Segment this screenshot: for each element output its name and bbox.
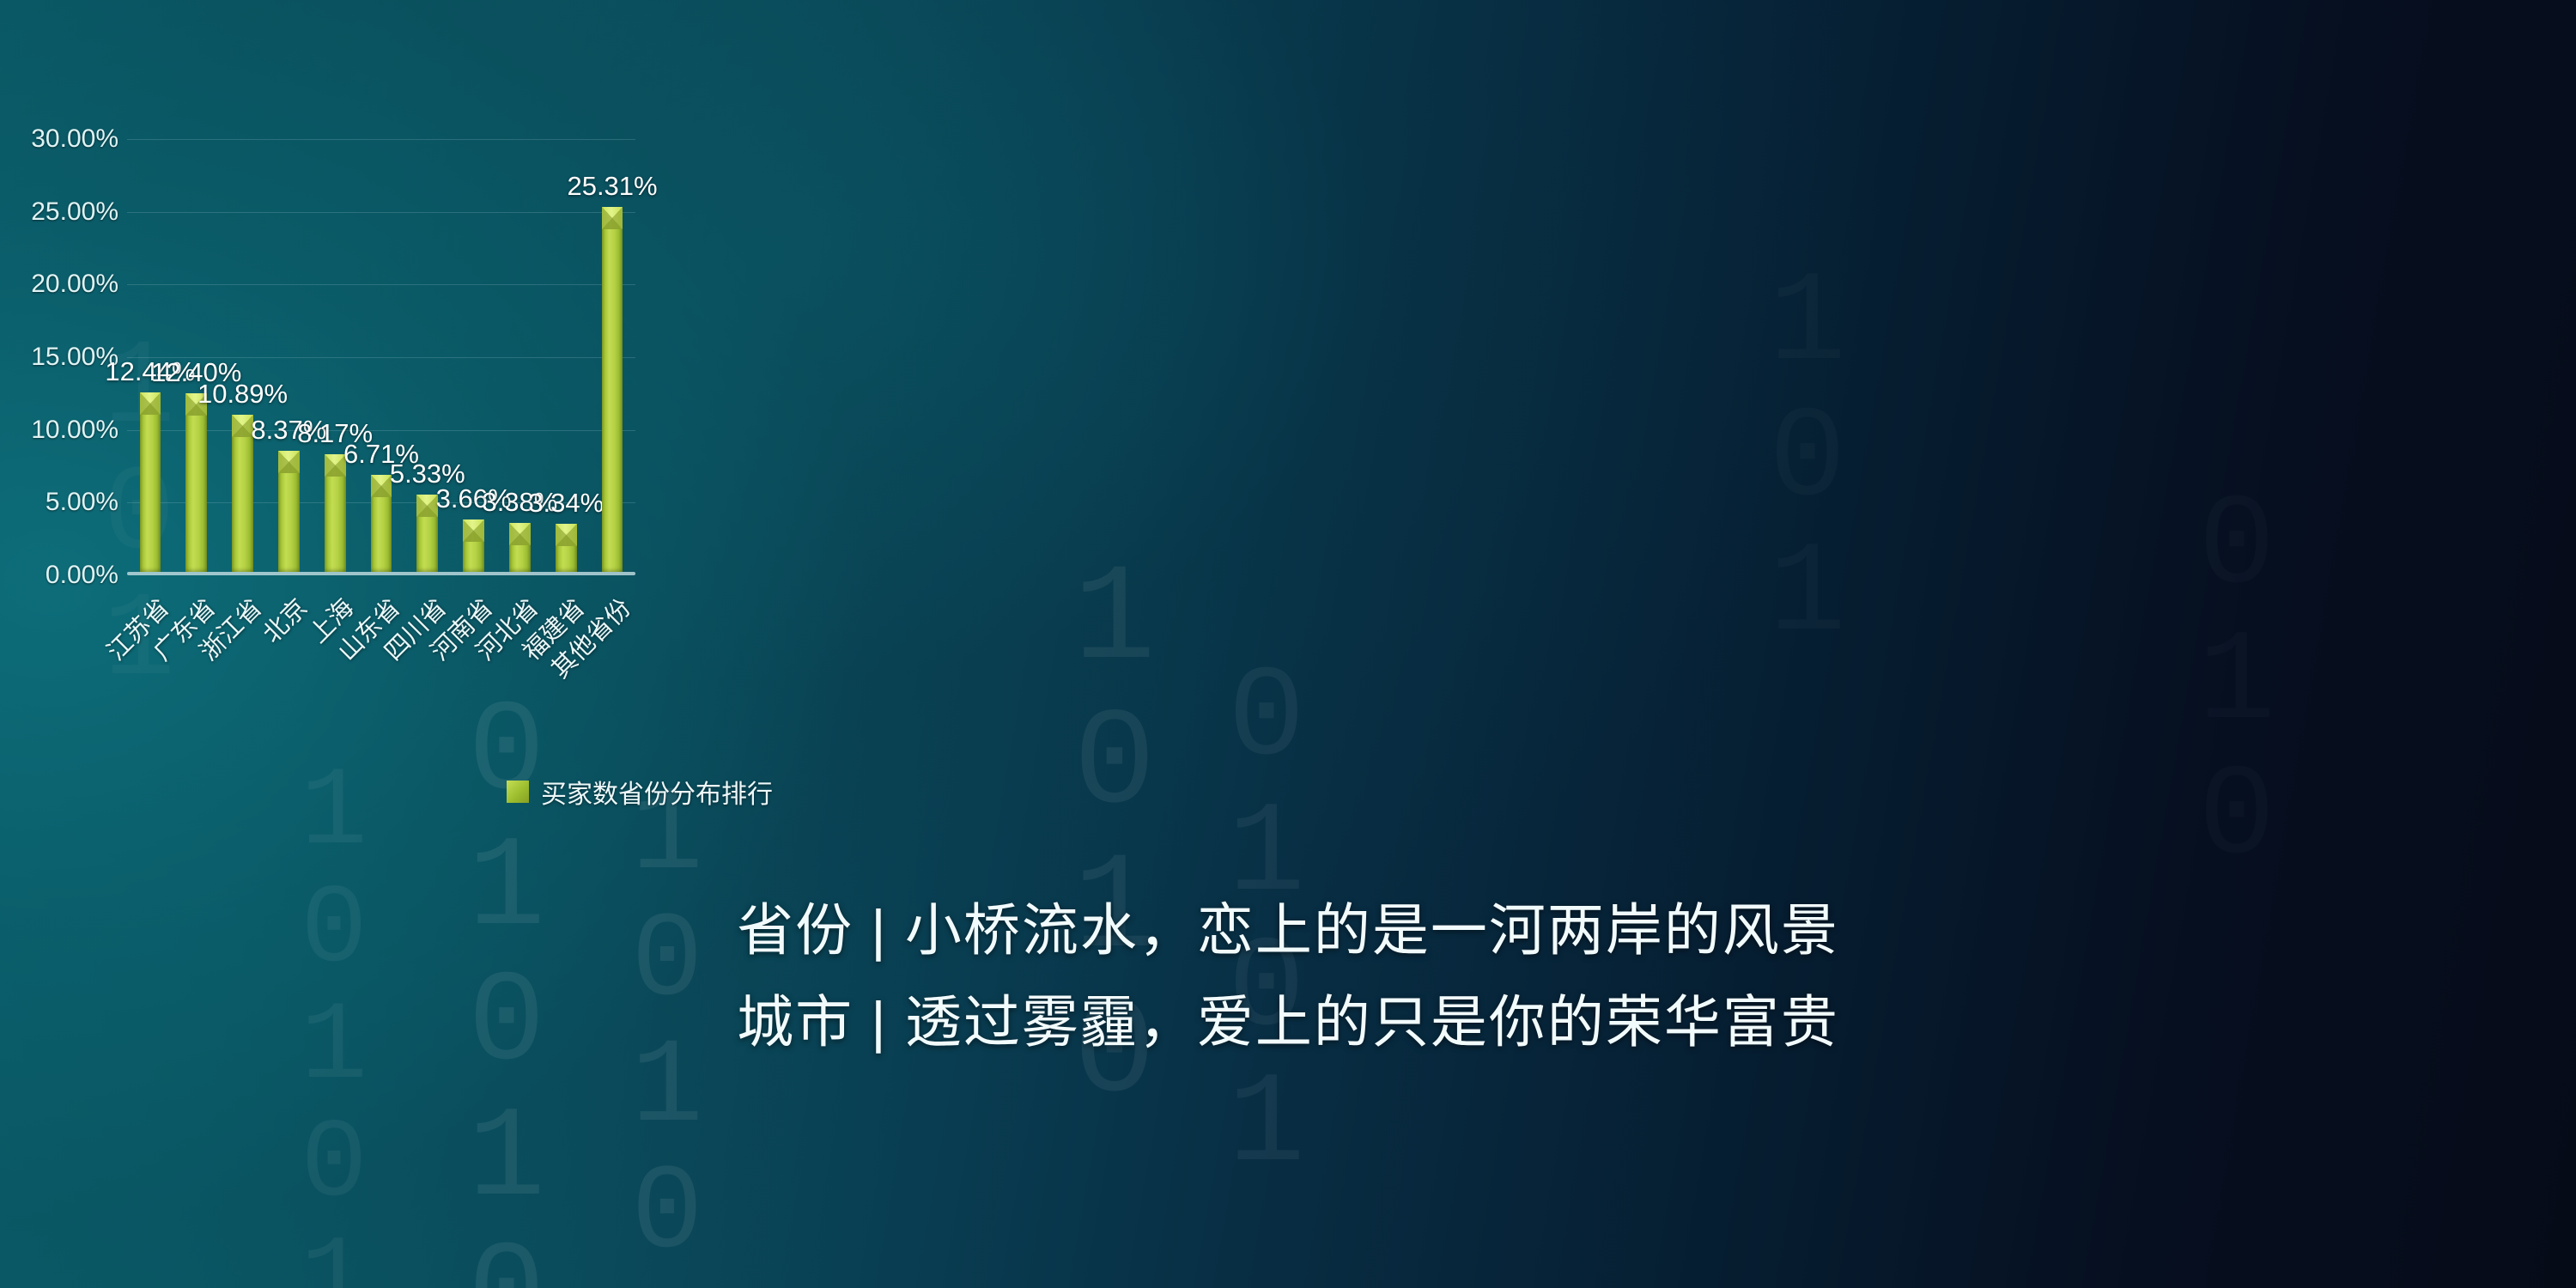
bar[interactable]: 3.66% — [463, 519, 484, 572]
bar[interactable]: 5.33% — [416, 495, 438, 572]
bar-cap — [509, 523, 531, 545]
bar[interactable]: 12.44% — [140, 392, 161, 572]
province-plot-area: 0.00%5.00%10.00%15.00%20.00%25.00%30.00%… — [127, 139, 635, 575]
bar-group[interactable]: 10.89% — [220, 139, 266, 572]
city-chart-panel: 0.00%10.00%20.00%30.00%40.00%50.00%60.00… — [1288, 0, 2576, 859]
bar-group[interactable]: 25.31% — [589, 139, 635, 572]
bar-body — [602, 207, 623, 572]
y-axis-tick-label: 30.00% — [31, 125, 118, 154]
province-y-axis: 0.00%5.00%10.00%15.00%20.00%25.00%30.00% — [0, 139, 118, 575]
legend-label: 买家数省份分布排行 — [541, 773, 773, 811]
x-axis-label-cell: 浙江省 — [220, 575, 266, 747]
y-axis-tick-label: 25.00% — [31, 197, 118, 227]
bar-group[interactable]: 3.34% — [543, 139, 589, 572]
bar[interactable]: 8.17% — [325, 454, 346, 572]
y-axis-tick-label: 10.00% — [31, 416, 118, 445]
province-bars: 12.44%12.40%10.89%8.37%8.17%6.71%5.33%3.… — [127, 139, 635, 572]
bar-cap — [278, 451, 300, 473]
bar-body — [185, 393, 207, 572]
bar-group[interactable]: 8.37% — [265, 139, 312, 572]
x-axis-label-cell: 北京 — [265, 575, 312, 747]
bar-cap — [602, 207, 623, 229]
bar[interactable]: 25.31% — [602, 207, 623, 572]
bar[interactable]: 8.37% — [278, 451, 300, 572]
bar-body — [232, 415, 253, 572]
bar-cap — [140, 392, 161, 415]
y-axis-tick-label: 0.00% — [46, 561, 118, 590]
bar-group[interactable]: 12.40% — [173, 139, 220, 572]
bar-cap — [416, 495, 438, 517]
bar[interactable]: 3.34% — [556, 524, 577, 572]
bar-cap — [371, 475, 392, 497]
caption-line-city: 城市 | 透过雾霾，爱上的只是你的荣华富贵 — [0, 976, 2576, 1068]
y-axis-tick-label: 5.00% — [46, 488, 118, 517]
bar-group[interactable]: 6.71% — [358, 139, 404, 572]
bar-body — [140, 392, 161, 572]
caption-line-province: 省份 | 小桥流水，恋上的是一河两岸的风景 — [0, 884, 2576, 976]
slide-canvas: 1 0 1 0 1 0 1 0 1 0 1 0 1 0 1 1 0 1 0 0 … — [0, 0, 2576, 1288]
bar-value-label: 25.31% — [567, 171, 657, 202]
caption-block: 省份 | 小桥流水，恋上的是一河两岸的风景 城市 | 透过雾霾，爱上的只是你的荣… — [0, 884, 2576, 1068]
province-legend: 买家数省份分布排行 — [507, 773, 773, 811]
province-x-axis-labels: 江苏省广东省浙江省北京上海山东省四川省河南省河北省福建省其他省份 — [127, 575, 635, 747]
y-axis-tick-label: 20.00% — [31, 270, 118, 299]
bar-group[interactable]: 8.17% — [312, 139, 358, 572]
x-axis-label-cell: 其他省份 — [589, 575, 635, 747]
bar-cap — [463, 519, 484, 542]
bar[interactable]: 10.89% — [232, 415, 253, 572]
bar[interactable]: 12.40% — [185, 393, 207, 572]
bar[interactable]: 6.71% — [371, 475, 392, 572]
bar[interactable]: 3.38% — [509, 523, 531, 572]
province-chart-panel: 0.00%5.00%10.00%15.00%20.00%25.00%30.00%… — [0, 0, 1288, 859]
legend-swatch-icon — [507, 781, 529, 803]
bar-cap — [556, 524, 577, 546]
bar-cap — [325, 454, 346, 477]
bar-group[interactable]: 12.44% — [127, 139, 173, 572]
bar-cap — [232, 415, 253, 437]
